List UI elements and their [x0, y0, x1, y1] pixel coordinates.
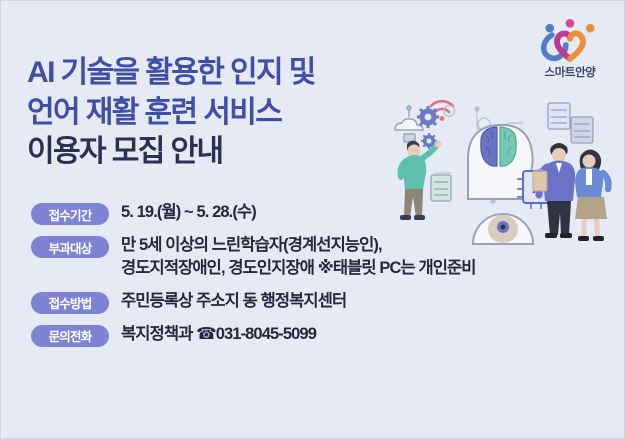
- info-row-method-text: 주민등록상 주소지 동 행정복지센터: [121, 290, 346, 313]
- target-line-1: 만 5세 이상의 느린학습자(경계선지능인),: [121, 234, 476, 257]
- badge-method: 접수방법: [31, 292, 109, 314]
- method-line-1: 주민등록상 주소지 동 행정복지센터: [121, 290, 346, 313]
- logo-text: 스마트안양: [545, 64, 596, 80]
- info-row-contact-text: 복지정책과 ☎031-8045-5099: [121, 323, 316, 346]
- info-list: 접수기간 5. 19.(월) ~ 5. 28.(수) 부과대상 만 5세 이상의…: [31, 201, 611, 356]
- info-row-method: 접수방법 주민등록상 주소지 동 행정복지센터: [31, 290, 611, 314]
- poster-canvas: 스마트안양 AI 기술을 활용한 인지 및 언어 재활 훈련 서비스 이용자 모…: [0, 0, 625, 439]
- badge-period: 접수기간: [31, 203, 109, 225]
- badge-contact: 문의전화: [31, 325, 109, 347]
- headline-line-1: AI 기술을 활용한 인지 및: [27, 53, 447, 93]
- info-row-contact: 문의전화 복지정책과 ☎031-8045-5099: [31, 323, 611, 347]
- info-row-target: 부과대상 만 5세 이상의 느린학습자(경계선지능인), 경도지적장애인, 경도…: [31, 234, 611, 281]
- period-line-1: 5. 19.(월) ~ 5. 28.(수): [121, 201, 256, 224]
- contact-line-1: 복지정책과 ☎031-8045-5099: [121, 323, 316, 346]
- info-row-target-text: 만 5세 이상의 느린학습자(경계선지능인), 경도지적장애인, 경도인지장애 …: [121, 234, 476, 281]
- badge-target: 부과대상: [31, 236, 109, 258]
- cloud-icon: [395, 106, 423, 142]
- info-row-period: 접수기간 5. 19.(월) ~ 5. 28.(수): [31, 201, 611, 225]
- smart-anyang-logo: 스마트안양: [529, 17, 611, 89]
- target-line-2: 경도지적장애인, 경도인지장애 ※태블릿 PC는 개인준비: [121, 257, 476, 280]
- logo-mark-icon: [535, 17, 605, 63]
- info-row-period-text: 5. 19.(월) ~ 5. 28.(수): [121, 201, 256, 224]
